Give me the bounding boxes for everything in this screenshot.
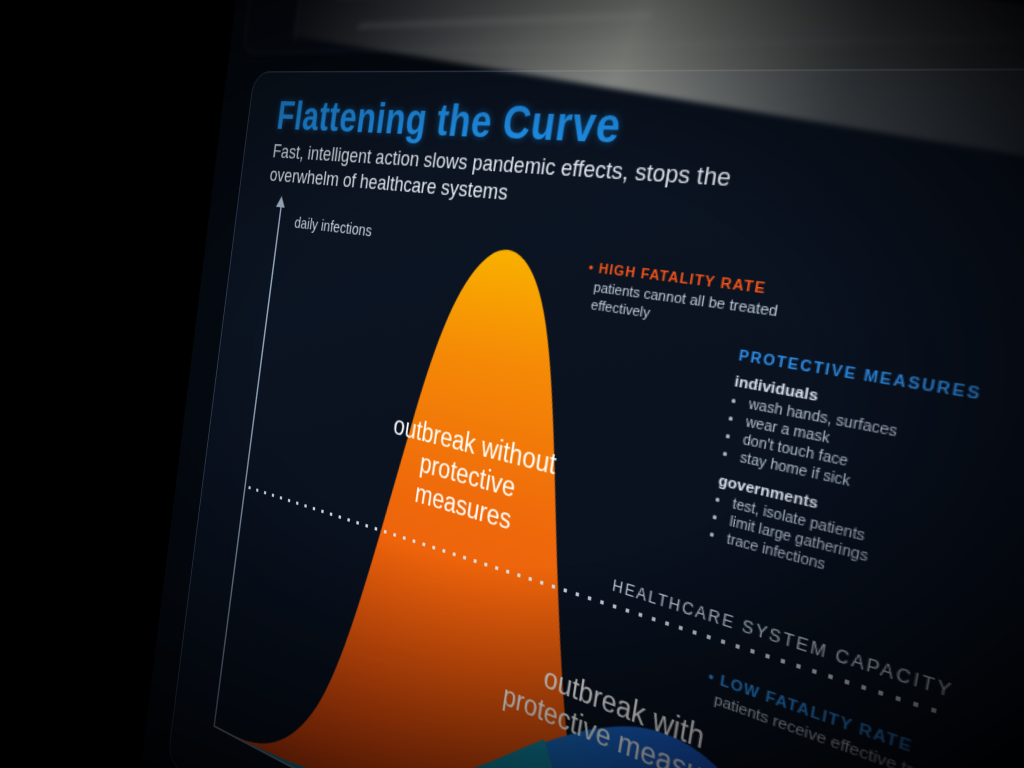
screen-perspective-wrapper: Flattening the Curve Fast, intelligent a… [0,0,1024,768]
background-panel-top [243,0,1024,54]
monitor-screen: Flattening the Curve Fast, intelligent a… [132,0,1024,768]
photo-of-monitor: Flattening the Curve Fast, intelligent a… [0,0,1024,768]
flattening-the-curve-card: Flattening the Curve Fast, intelligent a… [167,68,1024,768]
